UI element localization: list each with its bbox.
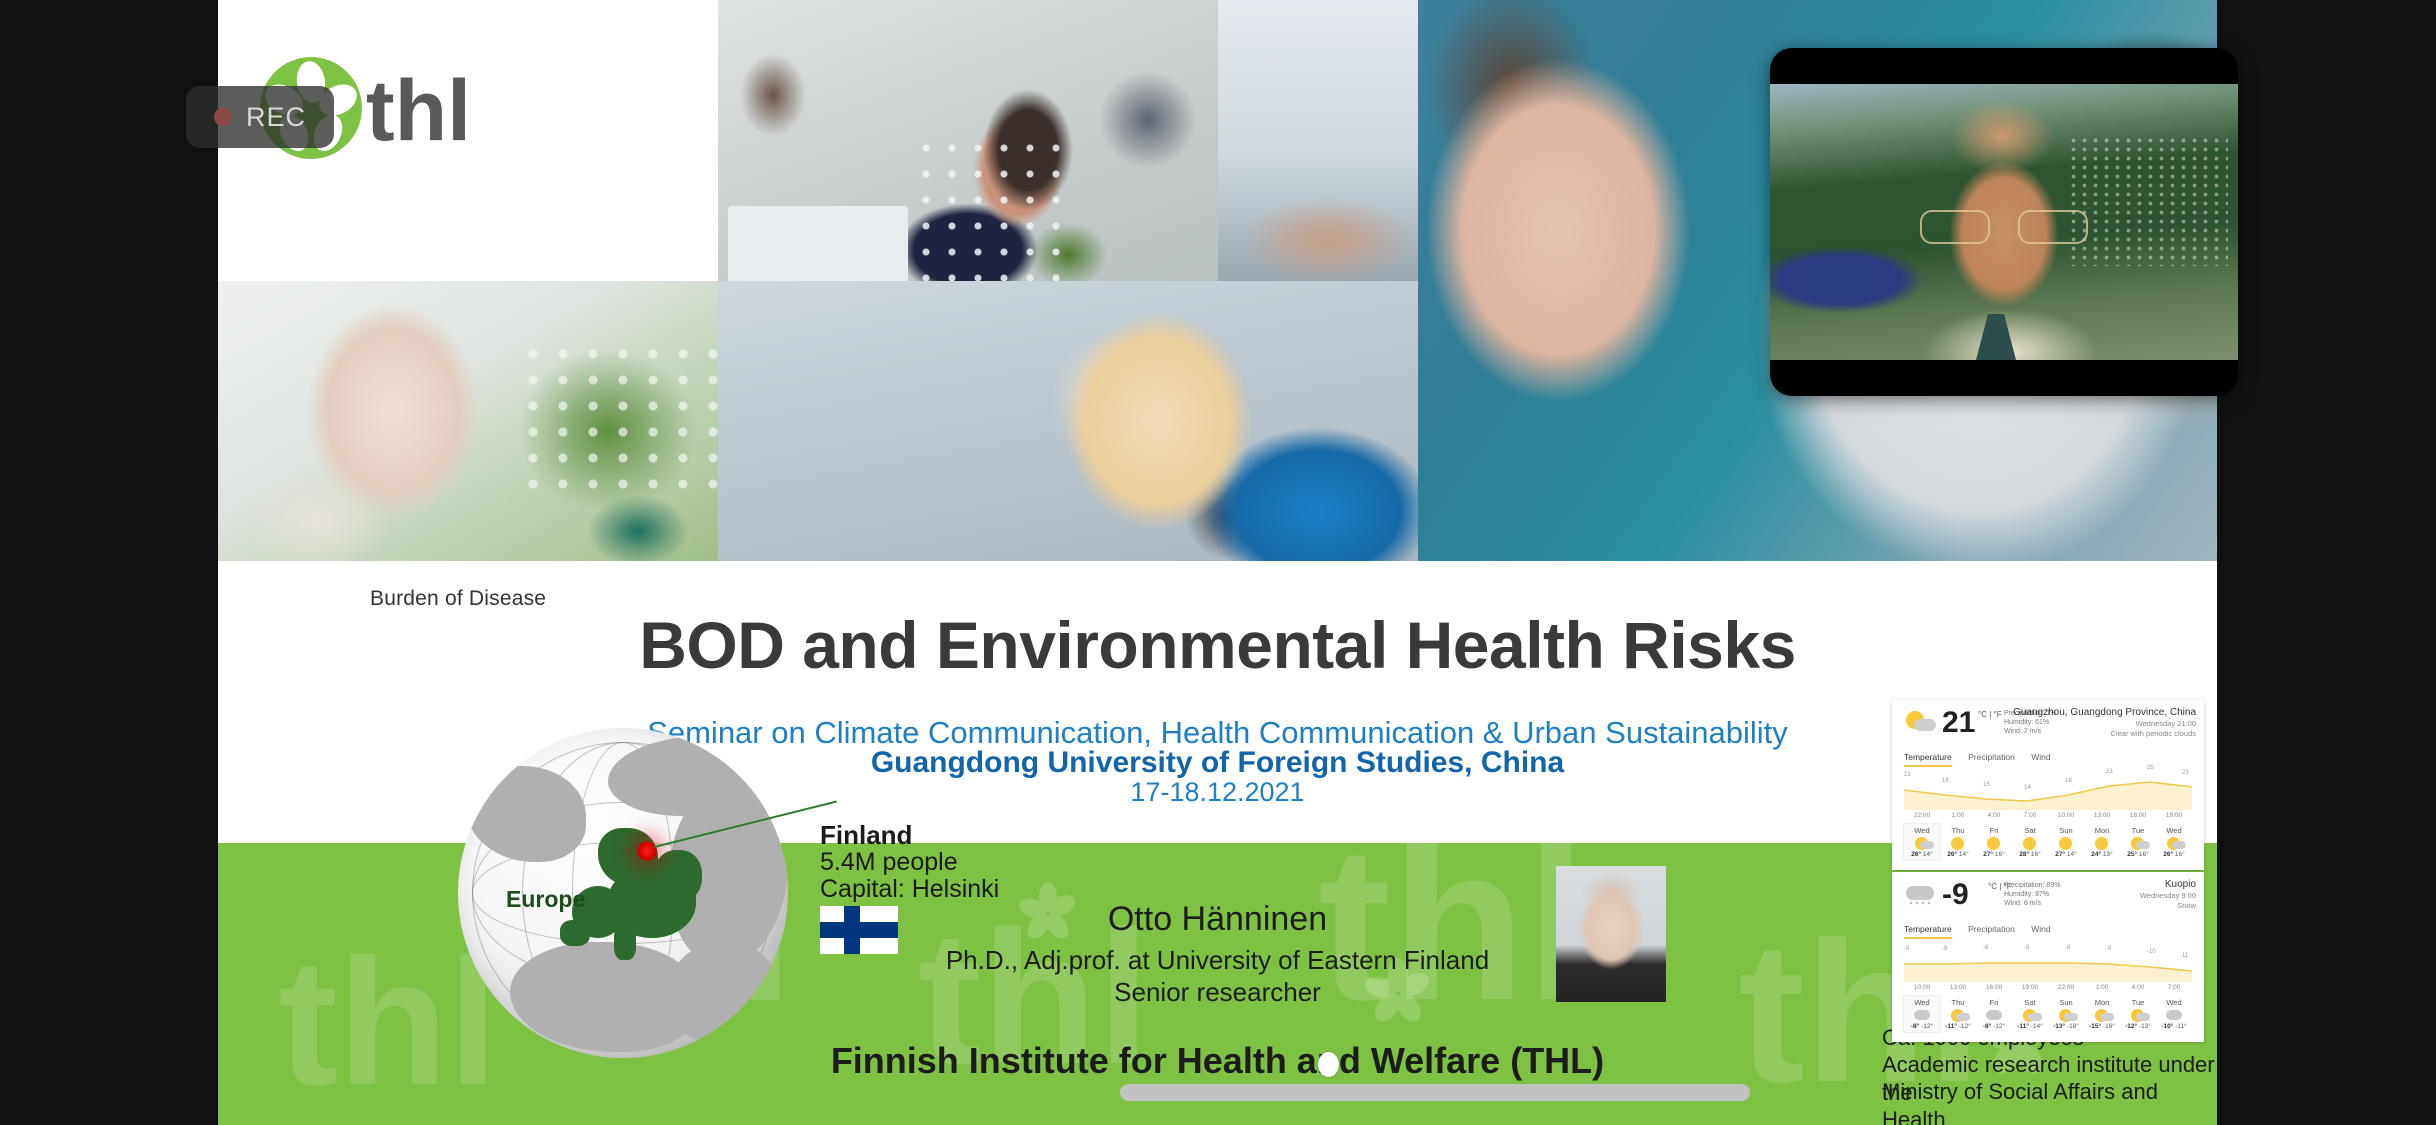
- sun-cloud-icon: [1940, 1007, 1976, 1023]
- country-population: 5.4M people: [820, 848, 958, 877]
- day-low: 16°: [1995, 851, 2005, 858]
- day-temps: -8° -12°: [1904, 1023, 1940, 1032]
- day-name: Fri: [1976, 824, 2012, 835]
- graph-label: -10: [2147, 949, 2156, 955]
- hour-label: 22:00: [2048, 984, 2084, 991]
- day-high: -10°: [2161, 1023, 2173, 1030]
- hands: [1218, 181, 1418, 281]
- day-name: Wed: [1904, 996, 1940, 1007]
- weather-condition: Snow: [2140, 901, 2196, 911]
- forecast-day[interactable]: Fri27° 16°: [1976, 824, 2012, 860]
- graph-label: 21: [1904, 772, 1911, 778]
- europe-globe: Europe: [458, 728, 833, 1058]
- day-temps: -11° -14°: [2012, 1023, 2048, 1032]
- weather-hours: 10:00 13:00 16:00 19:00 22:00 1:00 4:00 …: [1904, 984, 2192, 991]
- day-temps: 25° 16°: [2120, 851, 2156, 860]
- tablet-hands-photo: [1218, 0, 1418, 281]
- graph-label: 18: [1942, 778, 1949, 784]
- sun-icon: [2084, 835, 2120, 851]
- day-name: Sat: [2012, 996, 2048, 1007]
- svg-text:thl: thl: [366, 63, 471, 159]
- day-low: 16°: [2139, 851, 2149, 858]
- sun-icon: [2048, 835, 2084, 851]
- day-low: -16°: [2103, 1023, 2115, 1030]
- day-low: -11°: [2175, 1023, 2187, 1030]
- day-high: 27°: [2055, 851, 2065, 858]
- sun-cloud-icon: [2120, 1007, 2156, 1023]
- graph-label: -8: [2024, 945, 2029, 951]
- day-low: 14°: [1923, 851, 1933, 858]
- pointer-dot: [1318, 1052, 1339, 1077]
- forecast-day[interactable]: Fri-8° -12°: [1976, 996, 2012, 1032]
- day-high: 25°: [2127, 851, 2137, 858]
- weather-card-guangzhou[interactable]: 21 °C | °F Precipitation: 1% Humidity: 6…: [1892, 700, 2204, 870]
- child-at-window-photo: [718, 281, 1418, 561]
- weather-tabs[interactable]: Temperature Precipitation Wind: [1904, 752, 2065, 762]
- recording-badge[interactable]: REC: [186, 86, 334, 148]
- tab-temperature[interactable]: Temperature: [1904, 924, 1952, 939]
- country-name: Finland: [820, 820, 912, 851]
- snow-icon: [2156, 1007, 2192, 1023]
- day-temps: 26° 14°: [1904, 851, 1940, 860]
- day-high: 26°: [2163, 851, 2173, 858]
- polka-dot-shirt: [913, 135, 1073, 281]
- day-high: -15°: [2089, 1023, 2101, 1030]
- org-info-line-3: Ministry of Social Affairs and Health: [1882, 1078, 2217, 1125]
- day-temps: 27° 14°: [2048, 851, 2084, 860]
- sun-cloud-icon: [1904, 835, 1940, 851]
- snow-cloud-icon: [1904, 882, 1936, 906]
- day-name: Thu: [1940, 996, 1976, 1007]
- day-temps: 28° 16°: [2012, 851, 2048, 860]
- hour-label: 7:00: [2156, 984, 2192, 991]
- day-name: Fri: [1976, 996, 2012, 1007]
- forecast-day[interactable]: Wed-10° -11°: [2156, 996, 2192, 1032]
- sun-behind-cloud-icon: [1904, 710, 1936, 734]
- hour-label: 16:00: [2120, 812, 2156, 819]
- forecast-day[interactable]: Mon24° 13°: [2084, 824, 2120, 860]
- forecast-day[interactable]: Wed26° 14°: [1904, 824, 1940, 860]
- day-high: -8°: [1911, 1023, 1919, 1030]
- day-high: 26°: [1911, 851, 1921, 858]
- graph-label: -11: [2180, 953, 2188, 959]
- day-temps: 24° 13°: [2084, 851, 2120, 860]
- day-temps: -12° -13°: [2120, 1023, 2156, 1032]
- day-high: -13°: [2053, 1023, 2065, 1030]
- day-temps: -11° -12°: [1940, 1023, 1976, 1032]
- graph-label: -9: [2106, 946, 2111, 952]
- weather-tabs[interactable]: Temperature Precipitation Wind: [1904, 924, 2065, 934]
- weather-location-block: Guangzhou, Guangdong Province, China Wed…: [2013, 707, 2196, 739]
- snow-icon: [1976, 1007, 2012, 1023]
- weather-location: Guangzhou, Guangdong Province, China: [2013, 707, 2196, 719]
- forecast-day[interactable]: Sat28° 16°: [2012, 824, 2048, 860]
- day-name: Wed: [2156, 824, 2192, 835]
- day-temps: -10° -11°: [2156, 1023, 2192, 1032]
- hour-label: 1:00: [2084, 984, 2120, 991]
- day-low: 16°: [2031, 851, 2041, 858]
- graph-label: 15: [1983, 782, 1990, 788]
- day-high: 26°: [1947, 851, 1957, 858]
- presenter-headshot: [1556, 866, 1666, 1002]
- weather-temperature: -9: [1942, 880, 1969, 910]
- forecast-day[interactable]: Sat-11° -14°: [2012, 996, 2048, 1032]
- day-name: Wed: [2156, 996, 2192, 1007]
- necktie: [1976, 314, 2016, 360]
- screen: thl Burden of Disease BOD and Environmen…: [0, 0, 2436, 1125]
- day-high: -12°: [2125, 1023, 2137, 1030]
- graph-label: 23: [2106, 769, 2113, 775]
- weather-location-block: Kuopio Wednesday 9:00 Snow: [2140, 879, 2196, 911]
- presenter-webcam[interactable]: [1770, 48, 2238, 396]
- weather-temperature-graph: 21 18 15 14 18 23 25 23: [1904, 776, 2192, 810]
- hour-label: 10:00: [1904, 984, 1940, 991]
- hour-label: 16:00: [1976, 984, 2012, 991]
- weather-day-forecast[interactable]: Wed26° 14° Thu26° 14° Fri27° 16° Sat28° …: [1904, 824, 2192, 860]
- office-phone-call-photo: [718, 0, 1218, 281]
- hour-label: 1:00: [1940, 812, 1976, 819]
- weather-location: Kuopio: [2140, 879, 2196, 891]
- laptop: [728, 206, 908, 281]
- hour-label: 7:00: [2012, 812, 2048, 819]
- day-name: Sat: [2012, 824, 2048, 835]
- tab-wind[interactable]: Wind: [2031, 924, 2050, 934]
- day-low: -12°: [1993, 1023, 2005, 1030]
- sun-cloud-icon: [2012, 1007, 2048, 1023]
- graph-label: 14: [2024, 785, 2031, 791]
- weather-meta: Precipitation: 89% Humidity: 87% Wind: 6…: [2004, 881, 2060, 908]
- weather-temperature-graph: -9 -9 -8 -8 -8 -9 -10 -11: [1904, 948, 2192, 982]
- day-high: -11°: [2017, 1023, 2029, 1030]
- forecast-day[interactable]: Wed26° 16°: [2156, 824, 2192, 860]
- day-low: 16°: [2175, 851, 2185, 858]
- slide-progress-bar[interactable]: [1120, 1084, 1750, 1101]
- graph-label: 25: [2147, 765, 2154, 771]
- forecast-day[interactable]: Sun-13° -18°: [2048, 996, 2084, 1032]
- graph-label: -9: [1904, 946, 1909, 952]
- hour-label: 19:00: [2012, 984, 2048, 991]
- hour-label: 13:00: [2084, 812, 2120, 819]
- graph-label: 23: [2182, 770, 2189, 776]
- day-name: Thu: [1940, 824, 1976, 835]
- forecast-day[interactable]: Tue25° 16°: [2120, 824, 2156, 860]
- day-name: Tue: [2120, 996, 2156, 1007]
- sun-icon: [2012, 835, 2048, 851]
- forecast-day[interactable]: Mon-15° -16°: [2084, 996, 2120, 1032]
- weather-units[interactable]: °C | °F: [1978, 710, 2002, 719]
- day-high: -8°: [1983, 1023, 1991, 1030]
- eyeglasses: [1920, 210, 2088, 240]
- weather-temperature: 21: [1942, 708, 1975, 738]
- weather-time: Wednesday 21:00: [2013, 719, 2196, 729]
- day-name: Sun: [2048, 996, 2084, 1007]
- recording-label: REC: [246, 102, 306, 133]
- webcam-feed: [1770, 84, 2238, 360]
- weather-humidity: Humidity: 87%: [2004, 890, 2060, 899]
- sun-cloud-icon: [2048, 1007, 2084, 1023]
- hour-label: 10:00: [2048, 812, 2084, 819]
- weather-condition: Clear with periodic clouds: [2013, 729, 2196, 739]
- forecast-day[interactable]: Tue-12° -13°: [2120, 996, 2156, 1032]
- hour-label: 22:00: [1904, 812, 1940, 819]
- day-high: 24°: [2091, 851, 2101, 858]
- day-high: -11°: [1945, 1023, 1957, 1030]
- day-low: 14°: [1959, 851, 1969, 858]
- day-high: 27°: [1983, 851, 1993, 858]
- day-low: -14°: [2031, 1023, 2043, 1030]
- day-name: Mon: [2084, 824, 2120, 835]
- weather-card-kuopio[interactable]: -9 °C | °F Precipitation: 89% Humidity: …: [1892, 872, 2204, 1042]
- hour-label: 19:00: [2156, 812, 2192, 819]
- day-low: 13°: [2103, 851, 2113, 858]
- sun-icon: [1976, 835, 2012, 851]
- hour-label: 4:00: [1976, 812, 2012, 819]
- elderly-man-phone-photo: [218, 281, 718, 561]
- flowers: [518, 341, 718, 491]
- day-high: 28°: [2019, 851, 2029, 858]
- day-temps: 26° 16°: [2156, 851, 2192, 860]
- day-temps: -8° -12°: [1976, 1023, 2012, 1032]
- graph-label: -9: [1942, 946, 1947, 952]
- day-name: Mon: [2084, 996, 2120, 1007]
- weather-hours: 22:00 1:00 4:00 7:00 10:00 13:00 16:00 1…: [1904, 812, 2192, 819]
- record-dot-icon: [214, 108, 232, 126]
- weather-precipitation: Precipitation: 89%: [2004, 881, 2060, 890]
- forecast-day[interactable]: Sun27° 14°: [2048, 824, 2084, 860]
- day-name: Tue: [2120, 824, 2156, 835]
- sun-cloud-icon: [2084, 1007, 2120, 1023]
- day-low: -12°: [1959, 1023, 1971, 1030]
- day-low: -18°: [2067, 1023, 2079, 1030]
- tab-precipitation[interactable]: Precipitation: [1968, 924, 2015, 934]
- day-temps: 27° 16°: [1976, 851, 2012, 860]
- day-name: Wed: [1904, 824, 1940, 835]
- day-temps: -15° -16°: [2084, 1023, 2120, 1032]
- forecast-day[interactable]: Wed-8° -12°: [1904, 996, 1940, 1032]
- tab-wind[interactable]: Wind: [2031, 752, 2050, 762]
- sun-cloud-icon: [2120, 835, 2156, 851]
- snow-icon: [1904, 1007, 1940, 1023]
- graph-label: -8: [1983, 945, 1988, 951]
- day-low: 14°: [2067, 851, 2077, 858]
- hour-label: 13:00: [1940, 984, 1976, 991]
- sun-icon: [1940, 835, 1976, 851]
- aerial-town: [2068, 136, 2228, 266]
- forecast-day[interactable]: Thu26° 14°: [1940, 824, 1976, 860]
- weather-time: Wednesday 9:00: [2140, 891, 2196, 901]
- day-temps: -13° -18°: [2048, 1023, 2084, 1032]
- weather-wind: Wind: 6 m/s: [2004, 899, 2060, 908]
- day-name: Sun: [2048, 824, 2084, 835]
- day-temps: 26° 14°: [1940, 851, 1976, 860]
- day-low: -13°: [2139, 1023, 2151, 1030]
- page-title: BOD and Environmental Health Risks: [218, 608, 2217, 682]
- graph-label: -8: [2065, 945, 2070, 951]
- tab-precipitation[interactable]: Precipitation: [1968, 752, 2015, 762]
- weather-day-forecast[interactable]: Wed-8° -12° Thu-11° -12° Fri-8° -12° Sat…: [1904, 996, 2192, 1032]
- sun-cloud-icon: [2156, 835, 2192, 851]
- finland-location-marker: [636, 840, 658, 862]
- tab-temperature[interactable]: Temperature: [1904, 752, 1952, 767]
- graph-label: 18: [2065, 778, 2072, 784]
- forecast-day[interactable]: Thu-11° -12°: [1940, 996, 1976, 1032]
- day-low: -12°: [1921, 1023, 1933, 1030]
- hour-label: 4:00: [2120, 984, 2156, 991]
